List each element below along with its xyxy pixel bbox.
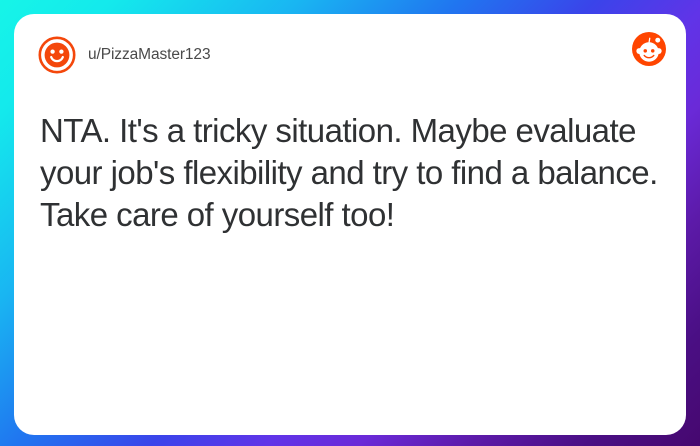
gradient-background: u/PizzaMaster123 NTA. It's a tricky situ… xyxy=(0,0,700,446)
reddit-snoo-logo-icon[interactable] xyxy=(632,32,666,66)
post-body: NTA. It's a tricky situation. Maybe eval… xyxy=(14,74,686,236)
username-label[interactable]: u/PizzaMaster123 xyxy=(88,46,210,64)
post-header: u/PizzaMaster123 xyxy=(14,14,686,74)
reddit-post-card: u/PizzaMaster123 NTA. It's a tricky situ… xyxy=(14,14,686,435)
post-text: NTA. It's a tricky situation. Maybe eval… xyxy=(40,110,660,236)
smiley-face-avatar-icon[interactable] xyxy=(38,36,76,74)
